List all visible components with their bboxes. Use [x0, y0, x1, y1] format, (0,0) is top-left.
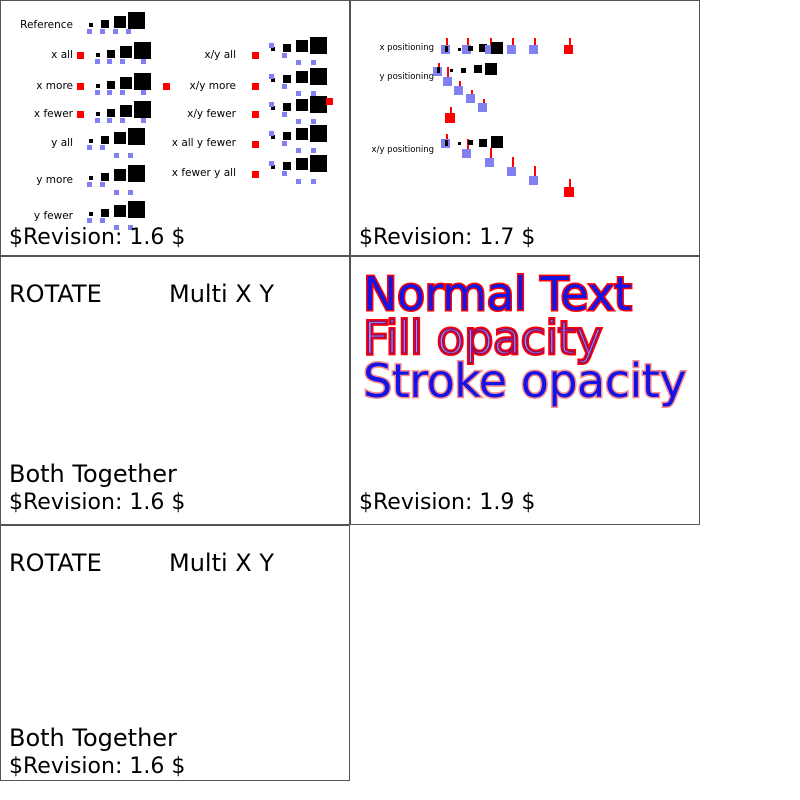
- marker-square: [445, 46, 448, 52]
- marker-square-secondary: [87, 145, 92, 150]
- marker-square: [296, 128, 308, 140]
- marker-square-endpoint: [77, 83, 84, 90]
- marker-square-endpoint: [77, 111, 84, 118]
- marker-square: [468, 140, 473, 145]
- marker-square: [120, 105, 132, 117]
- marker-square-secondary: [87, 29, 92, 34]
- marker-square-secondary: [507, 45, 516, 54]
- marker-square-secondary: [443, 77, 452, 86]
- row-label-x-all-y-fewer: x all y fewer: [139, 137, 236, 149]
- marker-square: [107, 109, 115, 117]
- marker-square-secondary: [269, 74, 274, 79]
- marker-square-secondary: [311, 119, 316, 124]
- marker-square: [101, 136, 109, 144]
- marker-square: [134, 73, 151, 90]
- marker-square-secondary: [269, 43, 274, 48]
- marker-square-endpoint: [252, 171, 259, 178]
- marker-square: [114, 169, 126, 181]
- marker-square: [101, 173, 109, 181]
- row-label-x-positioning: x positioning: [359, 43, 434, 53]
- marker-square-endpoint: [252, 52, 259, 59]
- revision-label: $Revision: 1.9 $: [359, 490, 535, 515]
- tick-mark: [490, 148, 492, 158]
- heading-rotate: ROTATE: [9, 549, 102, 577]
- marker-square-secondary: [462, 149, 471, 158]
- panel-markers-positioning[interactable]: x positioning y positioning x/y position…: [350, 0, 700, 256]
- marker-square-secondary: [120, 90, 125, 95]
- marker-square: [461, 68, 466, 73]
- marker-square: [310, 96, 327, 113]
- marker-square-endpoint: [326, 98, 333, 105]
- marker-square: [114, 132, 126, 144]
- marker-square-endpoint: [252, 83, 259, 90]
- marker-square: [491, 42, 503, 54]
- marker-square-secondary: [87, 218, 92, 223]
- marker-square-secondary: [114, 190, 119, 195]
- marker-square-secondary: [269, 102, 274, 107]
- marker-square-secondary: [120, 59, 125, 64]
- marker-square-endpoint: [163, 83, 170, 90]
- marker-square: [114, 16, 126, 28]
- marker-square: [485, 63, 497, 75]
- marker-square: [296, 99, 308, 111]
- marker-square: [474, 65, 482, 73]
- row-label-x-fewer-y-all: x fewer y all: [139, 167, 236, 179]
- marker-square-secondary: [95, 90, 100, 95]
- row-label-xy-positioning: x/y positioning: [359, 145, 434, 155]
- label-both-together: Both Together: [9, 460, 177, 488]
- marker-square: [96, 84, 100, 88]
- marker-square: [296, 40, 308, 52]
- marker-square: [445, 140, 448, 146]
- marker-square: [296, 71, 308, 83]
- marker-square-secondary: [87, 182, 92, 187]
- revision-label: $Revision: 1.7 $: [359, 225, 535, 250]
- marker-square-secondary: [466, 94, 475, 103]
- marker-square-secondary: [113, 29, 118, 34]
- panel-text-rotate-a[interactable]: ROTATE Multi X Y Both Together $Revision…: [0, 256, 350, 525]
- row-label-xy-fewer: x/y fewer: [151, 108, 236, 120]
- marker-square-secondary: [296, 148, 301, 153]
- marker-square-endpoint: [564, 45, 573, 54]
- marker-square-secondary: [269, 131, 274, 136]
- render-grid: Reference x all x more x fewer y all y m…: [0, 0, 800, 800]
- marker-square: [310, 68, 327, 85]
- marker-square: [310, 37, 327, 54]
- text-stroke-opacity: Stroke opacity: [363, 358, 686, 404]
- marker-square-secondary: [478, 103, 487, 112]
- marker-square-secondary: [128, 190, 133, 195]
- marker-square: [310, 155, 327, 172]
- marker-square: [120, 77, 132, 89]
- marker-square-secondary: [282, 53, 287, 58]
- marker-square-secondary: [529, 176, 538, 185]
- marker-square: [458, 48, 461, 51]
- marker-square: [120, 46, 132, 58]
- row-label-x-more: x more: [1, 80, 73, 92]
- marker-square-endpoint: [445, 113, 455, 123]
- marker-square: [89, 176, 93, 180]
- marker-square-secondary: [100, 218, 105, 223]
- marker-square: [296, 158, 308, 170]
- revision-label: $Revision: 1.6 $: [9, 490, 185, 515]
- marker-square-secondary: [282, 112, 287, 117]
- marker-square-secondary: [100, 145, 105, 150]
- marker-square: [89, 212, 93, 216]
- marker-square: [283, 103, 291, 111]
- marker-square: [437, 67, 440, 73]
- marker-square-secondary: [296, 179, 301, 184]
- marker-square: [491, 136, 503, 148]
- marker-square: [89, 139, 93, 143]
- row-label-xy-all: x/y all: [151, 49, 236, 61]
- marker-square: [310, 125, 327, 142]
- panel-text-opacity[interactable]: Normal Text Fill opacity Stroke opacity …: [350, 256, 700, 525]
- panel-empty-cell: [350, 525, 700, 781]
- marker-square: [283, 44, 291, 52]
- marker-square-secondary: [100, 182, 105, 187]
- marker-square-secondary: [100, 29, 105, 34]
- marker-square: [96, 53, 100, 57]
- marker-square: [128, 201, 145, 218]
- marker-square: [450, 69, 453, 72]
- heading-multi-x-y: Multi X Y: [169, 549, 274, 577]
- marker-square-secondary: [296, 119, 301, 124]
- heading-multi-x-y: Multi X Y: [169, 280, 274, 308]
- marker-square-secondary: [269, 161, 274, 166]
- marker-square: [468, 46, 473, 51]
- marker-square-secondary: [311, 179, 316, 184]
- marker-square-secondary: [311, 148, 316, 153]
- marker-square-endpoint: [252, 111, 259, 118]
- marker-square: [89, 23, 93, 27]
- marker-square-secondary: [107, 59, 112, 64]
- row-label-x-all: x all: [1, 49, 73, 61]
- marker-square-secondary: [126, 29, 131, 34]
- row-label-y-all: y all: [1, 137, 73, 149]
- row-label-reference: Reference: [1, 19, 73, 31]
- marker-square: [283, 132, 291, 140]
- marker-square: [283, 162, 291, 170]
- marker-square-secondary: [114, 153, 119, 158]
- marker-square-secondary: [95, 118, 100, 123]
- marker-square-secondary: [107, 118, 112, 123]
- marker-square-secondary: [485, 158, 494, 167]
- marker-square-secondary: [529, 45, 538, 54]
- tick-mark: [534, 166, 536, 176]
- marker-square-secondary: [296, 91, 301, 96]
- row-label-y-fewer: y fewer: [1, 210, 73, 222]
- label-both-together: Both Together: [9, 724, 177, 752]
- marker-square-endpoint: [564, 187, 574, 197]
- marker-square: [107, 81, 115, 89]
- marker-square: [128, 12, 145, 29]
- marker-square: [114, 205, 126, 217]
- marker-square: [101, 20, 109, 28]
- row-label-y-more: y more: [1, 174, 73, 186]
- marker-square-secondary: [120, 118, 125, 123]
- marker-square: [96, 112, 100, 116]
- marker-square-secondary: [311, 60, 316, 65]
- marker-square-secondary: [107, 90, 112, 95]
- marker-square-secondary: [141, 59, 146, 64]
- marker-square-secondary: [454, 86, 463, 95]
- marker-square: [128, 165, 145, 182]
- marker-square-endpoint: [77, 52, 84, 59]
- panel-text-rotate-b[interactable]: ROTATE Multi X Y Both Together $Revision…: [0, 525, 350, 781]
- marker-square: [283, 75, 291, 83]
- marker-square-secondary: [141, 118, 146, 123]
- marker-square-secondary: [141, 90, 146, 95]
- marker-square: [107, 50, 115, 58]
- row-label-x-fewer: x fewer: [1, 108, 73, 120]
- marker-square: [128, 128, 145, 145]
- marker-square: [479, 139, 487, 147]
- marker-square: [134, 101, 151, 118]
- tick-mark: [512, 157, 514, 167]
- revision-label: $Revision: 1.6 $: [9, 225, 185, 250]
- panel-markers-xy[interactable]: Reference x all x more x fewer y all y m…: [0, 0, 350, 256]
- marker-square-secondary: [507, 167, 516, 176]
- marker-square-secondary: [128, 153, 133, 158]
- marker-square-secondary: [282, 171, 287, 176]
- marker-square-secondary: [296, 60, 301, 65]
- marker-square-secondary: [282, 141, 287, 146]
- tick-mark: [447, 67, 449, 77]
- row-label-y-positioning: y positioning: [359, 72, 434, 82]
- marker-square: [134, 42, 151, 59]
- heading-rotate: ROTATE: [9, 280, 102, 308]
- marker-square-endpoint: [252, 141, 259, 148]
- revision-label: $Revision: 1.6 $: [9, 754, 185, 779]
- marker-square-secondary: [95, 59, 100, 64]
- marker-square-secondary: [282, 84, 287, 89]
- marker-square: [101, 209, 109, 217]
- marker-square: [458, 142, 461, 145]
